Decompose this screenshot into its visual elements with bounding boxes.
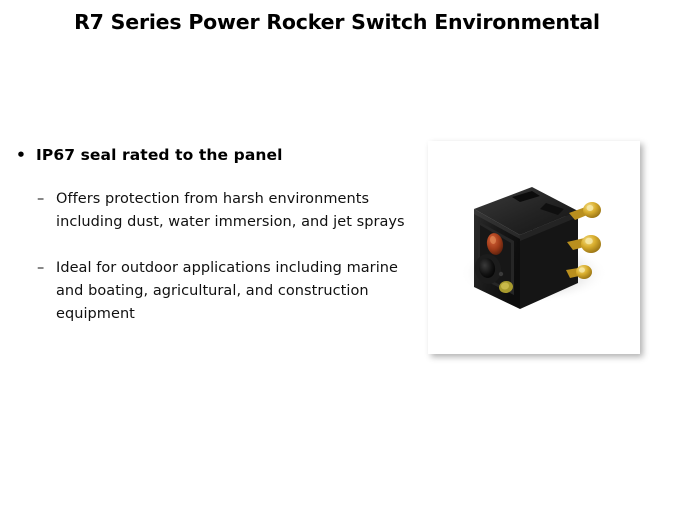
bullet-item-level2: – Ideal for outdoor applications includi… [0,257,420,326]
bullet-dash-icon: – [37,188,44,211]
bullet-dash-icon: – [37,257,44,280]
bullet-dot-icon: • [16,145,26,166]
bullet-level2-label: Ideal for outdoor applications including… [56,257,420,326]
bullet-level1-label: IP67 seal rated to the panel [36,146,283,164]
picture-frame [428,141,640,354]
slide-canvas: R7 Series Power Rocker Switch Environmen… [0,0,674,506]
bullet-level2-label: Offers protection from harsh environment… [56,188,420,234]
bullet-item-level1: • IP67 seal rated to the panel [0,145,420,166]
bullet-item-level2: – Offers protection from harsh environme… [0,188,420,234]
body-content: • IP67 seal rated to the panel – Offers … [0,145,420,326]
product-photo-rocker-switch [428,141,640,354]
page-title: R7 Series Power Rocker Switch Environmen… [0,9,674,35]
sub-bullet-list: – Offers protection from harsh environme… [0,188,420,326]
